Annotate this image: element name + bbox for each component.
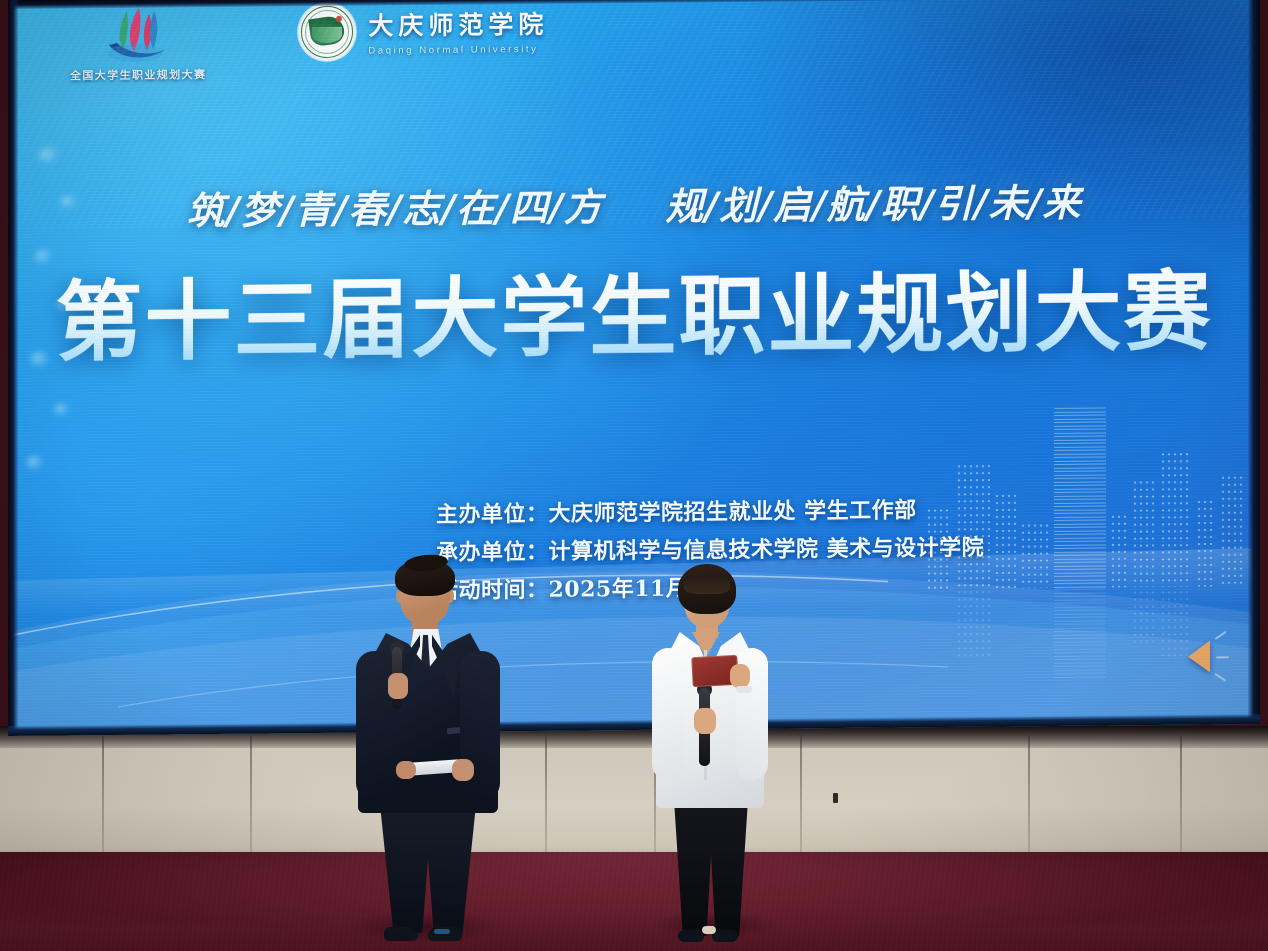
wall-panel-seam	[545, 735, 547, 857]
female-host-fringe	[684, 574, 730, 594]
female-host-shoe	[678, 930, 704, 942]
wall-socket	[833, 793, 838, 803]
screen-bezel-left	[8, 0, 18, 736]
female-host-foot-highlight	[702, 926, 716, 934]
male-host-shoe	[384, 927, 418, 941]
female-host-trousers	[674, 800, 748, 936]
wall-panel-seam	[250, 735, 252, 857]
wall-panel-seam	[1180, 735, 1182, 857]
female-host-arm	[652, 648, 684, 780]
male-host-trousers	[380, 805, 476, 933]
male-host-hand	[388, 673, 408, 699]
photo-scene: 全国大学生职业规划大赛 大庆师范学院 Daqing Normal Univers…	[0, 0, 1268, 951]
led-moire-texture	[8, 0, 1260, 230]
male-host-arm	[356, 651, 396, 801]
wall-panel-seam	[1028, 735, 1030, 857]
screen-bezel-right	[1248, 0, 1260, 724]
female-host-shoe	[712, 930, 738, 942]
female-host-hand	[730, 664, 750, 688]
male-host-shoe-highlight	[434, 929, 450, 934]
wall-panel-seam	[800, 735, 802, 857]
led-screen: 全国大学生职业规划大赛 大庆师范学院 Daqing Normal Univers…	[8, 0, 1260, 736]
carpet-vignette	[0, 852, 1268, 951]
male-host-hand	[452, 759, 474, 781]
wall-panel-seam	[102, 735, 104, 857]
female-host	[650, 560, 770, 951]
male-host	[352, 555, 502, 951]
male-host-hand	[396, 761, 416, 779]
wristwatch-icon	[736, 686, 752, 693]
female-host-hand	[694, 708, 716, 734]
